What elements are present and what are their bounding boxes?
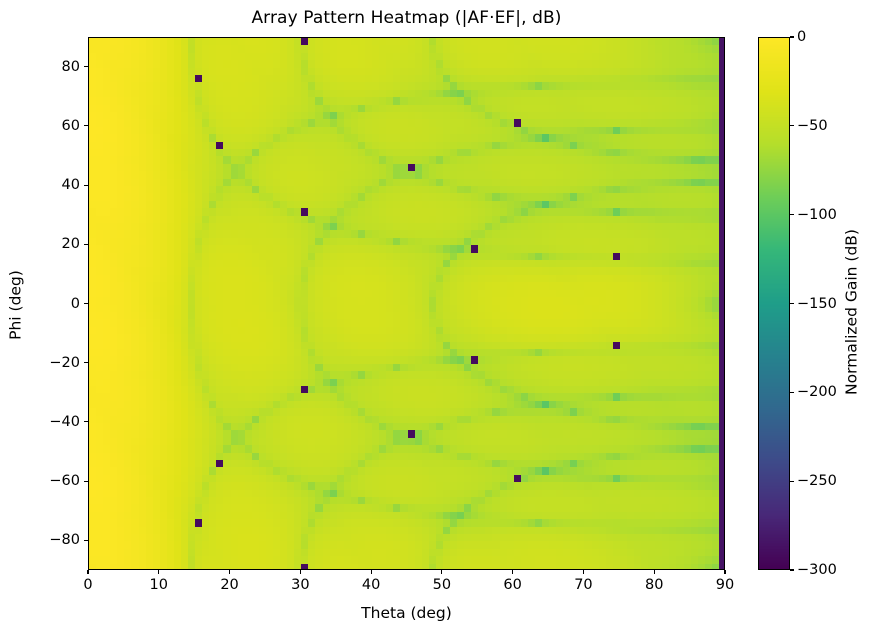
colorbar-tick-label: −150 xyxy=(797,296,837,312)
x-tick-label: 10 xyxy=(150,577,168,593)
y-tick-mark xyxy=(84,244,88,245)
x-axis-label: Theta (deg) xyxy=(88,604,725,622)
x-tick-mark xyxy=(441,570,442,574)
colorbar-tick-label: −100 xyxy=(797,207,837,223)
x-tick-label: 30 xyxy=(291,577,309,593)
colorbar[interactable] xyxy=(758,37,790,570)
x-tick-mark xyxy=(87,570,88,574)
colorbar-tick-label: −200 xyxy=(797,384,837,400)
x-tick-mark xyxy=(158,570,159,574)
x-tick-mark xyxy=(229,570,230,574)
colorbar-tick-mark xyxy=(790,392,794,393)
colorbar-tick-label: −300 xyxy=(797,562,837,578)
y-tick-mark xyxy=(84,185,88,186)
page-title: Array Pattern Heatmap (|AF·EF|, dB) xyxy=(88,8,725,28)
colorbar-tick-mark xyxy=(790,36,794,37)
x-tick-mark xyxy=(654,570,655,574)
colorbar-label: Normalized Gain (dB) xyxy=(843,46,861,579)
x-tick-mark xyxy=(512,570,513,574)
y-tick-mark xyxy=(84,540,88,541)
colorbar-gradient xyxy=(759,38,789,569)
y-axis-label: Phi (deg) xyxy=(7,39,25,572)
heatmap-plot-area[interactable] xyxy=(88,37,725,570)
x-tick-label: 40 xyxy=(362,577,380,593)
y-tick-mark xyxy=(84,66,88,67)
x-tick-label: 20 xyxy=(220,577,238,593)
y-tick-mark xyxy=(84,303,88,304)
colorbar-tick-mark xyxy=(790,481,794,482)
x-tick-label: 0 xyxy=(83,577,92,593)
x-tick-mark xyxy=(583,570,584,574)
colorbar-tick-mark xyxy=(790,214,794,215)
x-tick-mark xyxy=(724,570,725,574)
colorbar-tick-mark xyxy=(790,569,794,570)
y-tick-mark xyxy=(84,125,88,126)
colorbar-tick-mark xyxy=(790,303,794,304)
colorbar-tick-label: 0 xyxy=(797,29,806,45)
x-tick-label: 80 xyxy=(645,577,663,593)
y-tick-mark xyxy=(84,362,88,363)
heatmap-image xyxy=(89,38,725,570)
x-tick-mark xyxy=(300,570,301,574)
colorbar-tick-mark xyxy=(790,125,794,126)
colorbar-tick-label: −250 xyxy=(797,473,837,489)
x-tick-label: 60 xyxy=(503,577,521,593)
y-tick-mark xyxy=(84,421,88,422)
y-tick-mark xyxy=(84,481,88,482)
x-tick-mark xyxy=(371,570,372,574)
x-tick-label: 70 xyxy=(574,577,592,593)
figure-canvas: Array Pattern Heatmap (|AF·EF|, dB) 0102… xyxy=(0,0,885,637)
x-tick-label: 90 xyxy=(716,577,734,593)
x-tick-label: 50 xyxy=(433,577,451,593)
colorbar-tick-label: −50 xyxy=(797,118,828,134)
